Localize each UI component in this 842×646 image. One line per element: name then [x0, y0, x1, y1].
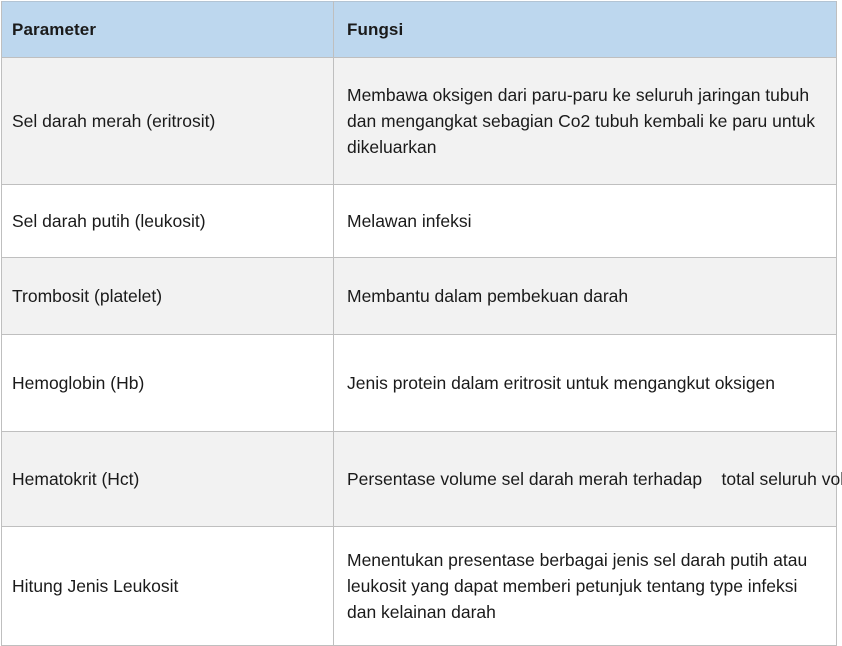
table-header: Parameter Fungsi — [2, 2, 837, 58]
cell-fungsi: Persentase volume sel darah merah terhad… — [334, 432, 837, 527]
cell-fungsi: Melawan infeksi — [334, 185, 837, 258]
cell-fungsi: Membawa oksigen dari paru-paru ke seluru… — [334, 58, 837, 185]
table-row: Hitung Jenis Leukosit Menentukan present… — [2, 527, 837, 646]
table-row: Trombosit (platelet) Membantu dalam pemb… — [2, 258, 837, 335]
table-body: Sel darah merah (eritrosit) Membawa oksi… — [2, 58, 837, 646]
cell-fungsi: Menentukan presentase berbagai jenis sel… — [334, 527, 837, 646]
cell-parameter: Hemoglobin (Hb) — [2, 335, 334, 432]
cell-parameter: Sel darah putih (leukosit) — [2, 185, 334, 258]
cell-fungsi: Jenis protein dalam eritrosit untuk meng… — [334, 335, 837, 432]
table-header-row: Parameter Fungsi — [2, 2, 837, 58]
cell-parameter: Hematokrit (Hct) — [2, 432, 334, 527]
table-row: Hematokrit (Hct) Persentase volume sel d… — [2, 432, 837, 527]
table-row: Sel darah merah (eritrosit) Membawa oksi… — [2, 58, 837, 185]
cell-fungsi: Membantu dalam pembekuan darah — [334, 258, 837, 335]
table-row: Hemoglobin (Hb) Jenis protein dalam erit… — [2, 335, 837, 432]
blood-parameter-table: Parameter Fungsi Sel darah merah (eritro… — [1, 1, 837, 646]
cell-parameter: Trombosit (platelet) — [2, 258, 334, 335]
cell-parameter: Sel darah merah (eritrosit) — [2, 58, 334, 185]
column-header-parameter: Parameter — [2, 2, 334, 58]
column-header-fungsi: Fungsi — [334, 2, 837, 58]
table-row: Sel darah putih (leukosit) Melawan infek… — [2, 185, 837, 258]
cell-parameter: Hitung Jenis Leukosit — [2, 527, 334, 646]
table-container: Parameter Fungsi Sel darah merah (eritro… — [0, 0, 842, 550]
